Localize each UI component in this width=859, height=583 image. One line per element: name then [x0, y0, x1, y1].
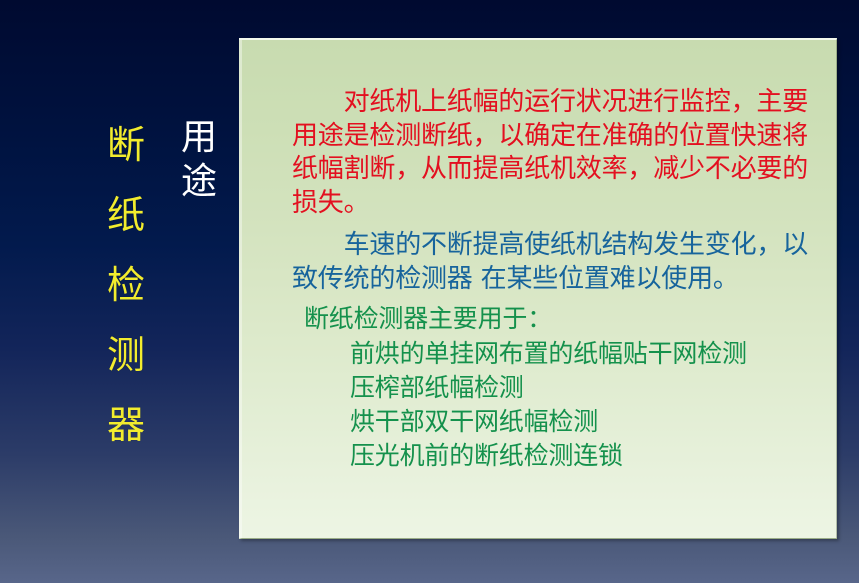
subtitle-char-2: 途 [181, 160, 217, 204]
vertical-title-char-5: 器 [107, 390, 145, 460]
presentation-slide: 断 纸 检 测 器 用 途 对纸机上纸幅的运行状况进行监控，主要用途是检测断纸，… [0, 0, 859, 583]
vertical-slide-title: 断 纸 检 测 器 [98, 110, 154, 460]
vertical-title-char-4: 测 [107, 320, 145, 390]
list-item: 压榨部纸幅检测 [350, 371, 836, 405]
vertical-subtitle: 用 途 [176, 116, 222, 204]
vertical-title-char-2: 纸 [107, 180, 145, 250]
paragraph-speed-blue: 车速的不断提高使纸机结构发生变化，以致传统的检测器 在某些位置难以使用。 [242, 229, 836, 296]
vertical-title-char-3: 检 [107, 250, 145, 320]
subtitle-char-1: 用 [181, 116, 217, 160]
vertical-title-char-1: 断 [107, 110, 145, 180]
list-item: 烘干部双干网纸幅检测 [350, 405, 836, 439]
paragraph-applications-heading: 断纸检测器主要用于： [242, 302, 836, 335]
content-panel: 对纸机上纸幅的运行状况进行监控，主要用途是检测断纸，以确定在准确的位置快速将纸幅… [239, 38, 837, 539]
paragraph-purpose-red: 对纸机上纸幅的运行状况进行监控，主要用途是检测断纸，以确定在准确的位置快速将纸幅… [242, 86, 836, 220]
list-item: 前烘的单挂网布置的纸幅贴干网检测 [350, 337, 836, 371]
application-bullet-list: 前烘的单挂网布置的纸幅贴干网检测 压榨部纸幅检测 烘干部双干网纸幅检测 压光机前… [242, 337, 836, 473]
list-item: 压光机前的断纸检测连锁 [350, 439, 836, 473]
